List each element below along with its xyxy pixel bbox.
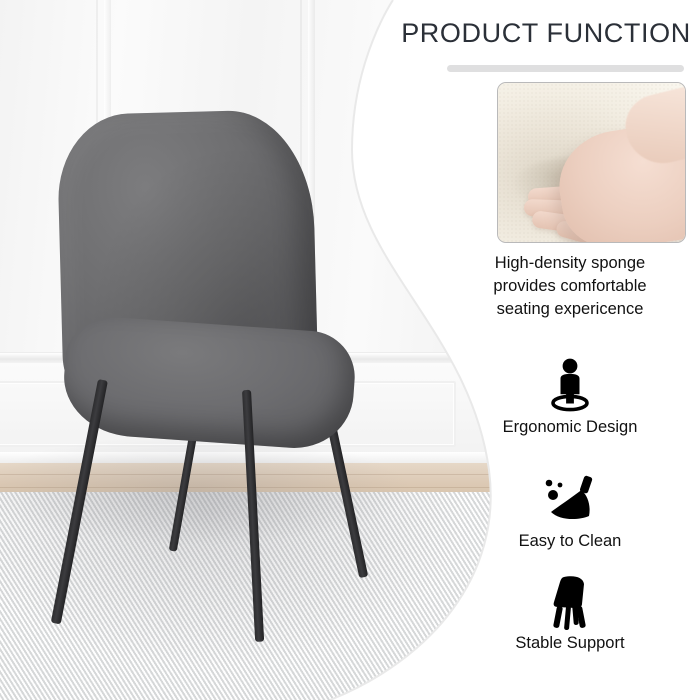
foam-caption-line-3: seating expericence	[440, 298, 700, 321]
feature-label: Stable Support	[440, 634, 700, 653]
feature-label: Ergonomic Design	[440, 418, 700, 437]
feature-panel: PRODUCT FUNCTION High-density sponge pro…	[440, 0, 700, 700]
memory-foam-photo	[497, 82, 686, 243]
feature-easy-to-clean: Easy to Clean	[440, 470, 700, 551]
chair-silhouette-icon	[440, 572, 700, 632]
feature-stable-support: Stable Support	[440, 572, 700, 653]
person-in-circle-icon	[440, 356, 700, 416]
title-divider-rule	[447, 65, 684, 72]
foam-caption-line-1: High-density sponge	[440, 252, 700, 275]
foam-caption: High-density sponge provides comfortable…	[440, 252, 700, 321]
product-function-infographic: PRODUCT FUNCTION High-density sponge pro…	[0, 0, 700, 700]
feature-label: Easy to Clean	[440, 532, 700, 551]
foam-caption-line-2: provides comfortable	[440, 275, 700, 298]
feature-ergonomic-design: Ergonomic Design	[440, 356, 700, 437]
page-title: PRODUCT FUNCTION	[392, 18, 700, 49]
broom-sweeping-icon	[440, 470, 700, 530]
